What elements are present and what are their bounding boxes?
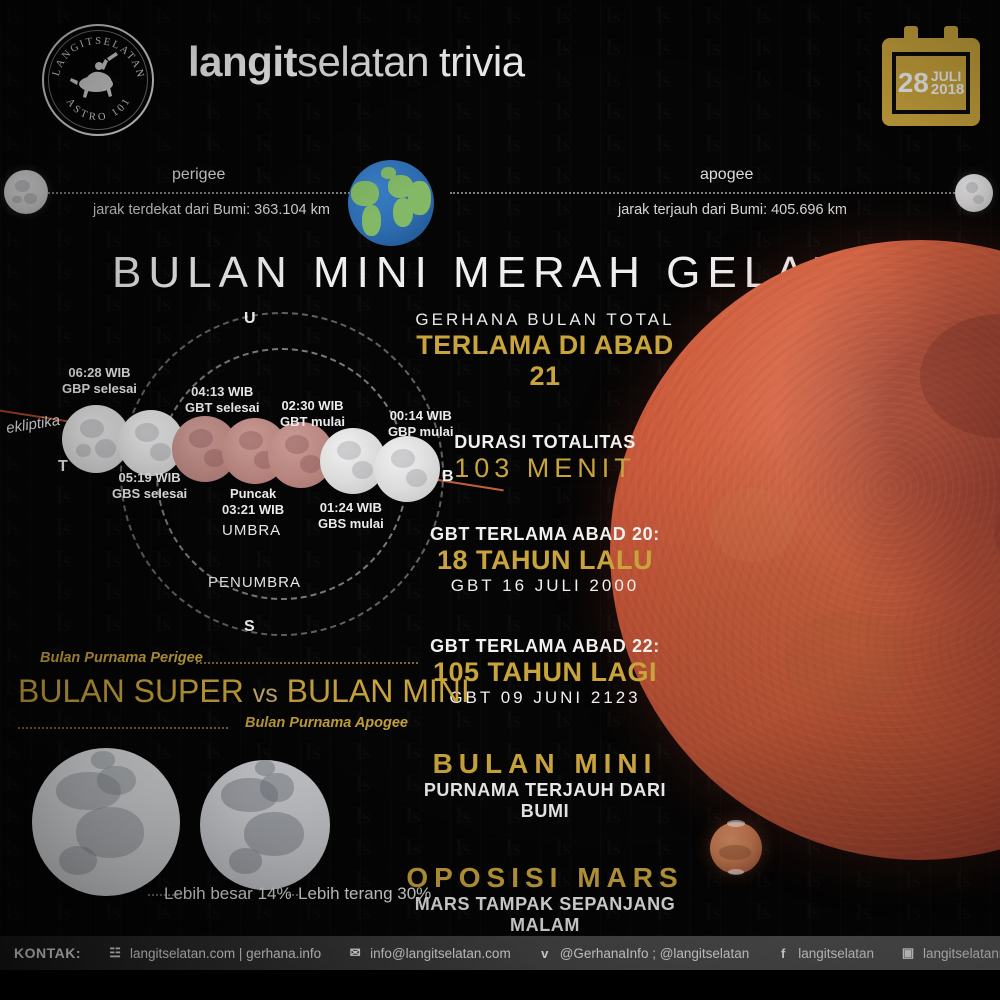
eclipse-kicker: GERHANA BULAN TOTAL xyxy=(400,310,690,330)
apogee-caption-row: Bulan Purnama Apogee xyxy=(18,713,418,737)
penumbra-label: PENUMBRA xyxy=(208,574,301,591)
ecliptic-label: ekliptika xyxy=(5,412,61,437)
footer-kontak-label: KONTAK: xyxy=(14,945,81,961)
comparison-title: BULAN SUPER vs BULAN MINI xyxy=(18,672,418,713)
footer-item-3[interactable]: flangitselatan xyxy=(775,945,874,961)
moon-size-comparison: Lebih besar 14% Lebih terang 30% xyxy=(20,742,420,922)
footer-item-text: langitselatanmedia xyxy=(923,946,1000,961)
orbit-distance-band: perigee jarak terdekat dari Bumi: 363.10… xyxy=(0,0,1000,110)
apogee-caption: Bulan Purnama Apogee xyxy=(245,715,408,731)
mini-moon-subtitle: PURNAMA TERJAUH DARI BUMI xyxy=(400,780,690,822)
apogee-moon xyxy=(955,174,993,212)
footer-item-text: info@langitselatan.com xyxy=(370,946,511,961)
marker-timur: T xyxy=(58,458,68,476)
peak-label: Puncak03:21 WIB xyxy=(222,486,284,518)
infographic-canvas: lslslslslslslslslslslslslslslslslslslsls… xyxy=(0,0,1000,1000)
comparison-title-vs: vs xyxy=(253,680,278,708)
perigee-subtitle: jarak terdekat dari Bumi: 363.104 km xyxy=(93,202,330,218)
mini-moon-title: BULAN MINI xyxy=(400,748,690,780)
footer-item-4[interactable]: ▣langitselatanmedia xyxy=(900,945,1000,961)
comparison-title-right: BULAN MINI xyxy=(287,673,470,709)
century20-label: GBT TERLAMA ABAD 20: xyxy=(400,524,690,545)
mars-opposition-subtitle: MARS TAMPAK SEPANJANG MALAM xyxy=(400,894,690,936)
footer-bottom-strip xyxy=(0,970,1000,1000)
footer-item-text: @GerhanaInfo ; @langitselatan xyxy=(560,946,750,961)
facebook-icon: f xyxy=(775,945,791,961)
footer-items: ☳langitselatan.com | gerhana.info✉info@l… xyxy=(107,945,1000,961)
apogee-dotted-line xyxy=(450,192,970,194)
apogee-subtitle: jarak terjauh dari Bumi: 405.696 km xyxy=(618,202,847,218)
footer-item-text: langitselatan.com | gerhana.info xyxy=(130,946,321,961)
mini-moon-disc xyxy=(200,760,330,890)
comparison-title-left: BULAN SUPER xyxy=(18,673,244,709)
perigee-moon xyxy=(4,170,48,214)
earth-icon xyxy=(348,160,434,246)
century20-date: GBT 16 JULI 2000 xyxy=(400,576,690,596)
brighter-label-rule xyxy=(288,894,298,896)
page-title: BULAN MINI MERAH GELAP xyxy=(112,248,848,298)
eclipse-headline: TERLAMA DI ABAD 21 xyxy=(400,330,690,392)
footer-item-2[interactable]: ᴠ@GerhanaInfo ; @langitselatan xyxy=(537,945,750,961)
label-brighter: Lebih terang 30% xyxy=(298,884,431,904)
umbra-label: UMBRA xyxy=(222,522,281,539)
label-bigger: Lebih besar 14% xyxy=(164,884,292,904)
instagram-icon: ▣ xyxy=(900,945,916,961)
twitter-icon: ᴠ xyxy=(537,945,553,961)
footer-item-text: langitselatan xyxy=(798,946,874,961)
super-vs-mini-heading: Bulan Purnama Perigee BULAN SUPER vs BUL… xyxy=(18,650,418,737)
footer-contact-bar: KONTAK: ☳langitselatan.com | gerhana.inf… xyxy=(0,936,1000,970)
marker-utara: U xyxy=(244,310,256,328)
perigee-caption-row: Bulan Purnama Perigee xyxy=(18,650,418,672)
century22-label: GBT TERLAMA ABAD 22: xyxy=(400,636,690,657)
phase-label-2: 05:19 WIBGBS selesai xyxy=(112,470,187,502)
stats-column: GERHANA BULAN TOTAL TERLAMA DI ABAD 21 D… xyxy=(400,310,690,936)
perigee-caption: Bulan Purnama Perigee xyxy=(40,650,203,666)
apogee-title: apogee xyxy=(700,166,753,184)
email-icon: ✉ xyxy=(347,945,363,961)
super-moon-disc xyxy=(32,748,180,896)
footer-item-0[interactable]: ☳langitselatan.com | gerhana.info xyxy=(107,945,321,961)
perigee-caption-rule xyxy=(196,662,418,664)
phase-label-3: 04:13 WIBGBT selesai xyxy=(185,384,259,416)
footer-item-1[interactable]: ✉info@langitselatan.com xyxy=(347,945,511,961)
apogee-caption-rule xyxy=(18,727,228,729)
mars-planet-image xyxy=(710,822,762,874)
perigee-dotted-line xyxy=(40,192,350,194)
mars-opposition-title: OPOSISI MARS xyxy=(400,862,690,894)
phase-label-5: 01:24 WIBGBS mulai xyxy=(318,500,384,532)
duration-value: 103 MENIT xyxy=(400,453,690,484)
century20-value: 18 TAHUN LALU xyxy=(400,545,690,576)
rss-icon: ☳ xyxy=(107,945,123,961)
marker-selatan: S xyxy=(244,618,255,636)
phase-label-1: 06:28 WIBGBP selesai xyxy=(62,365,137,397)
perigee-title: perigee xyxy=(172,166,225,184)
phase-label-4: 02:30 WIBGBT mulai xyxy=(280,398,345,430)
duration-label: DURASI TOTALITAS xyxy=(400,432,690,453)
